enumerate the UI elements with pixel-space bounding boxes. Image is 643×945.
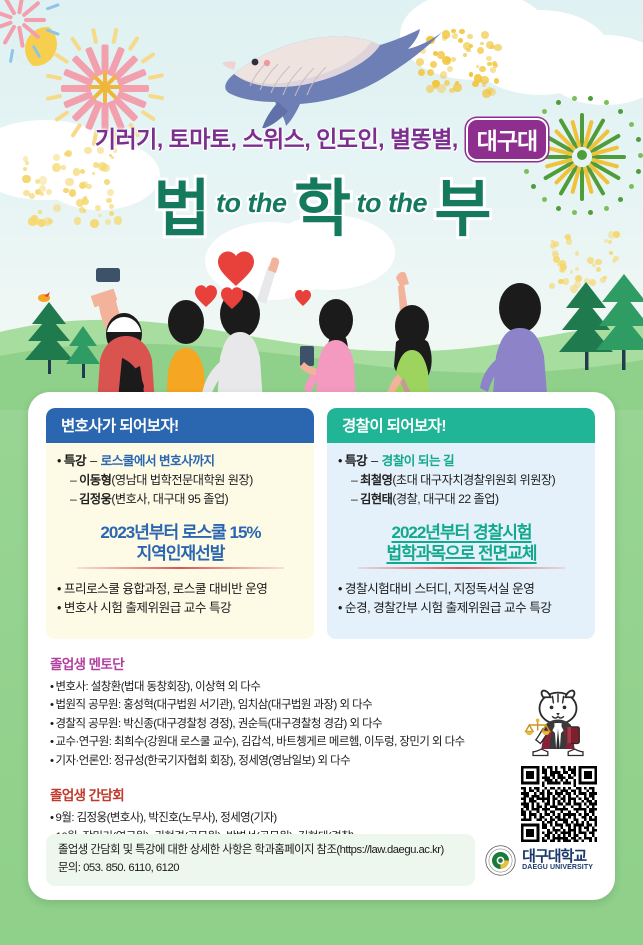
university-badge: 대구대 — [466, 118, 548, 161]
lecture-dash: – — [371, 452, 378, 471]
card-police: 경찰이 되어보자! • 특강 – 경찰이 되는 길 – 최철영(초대 대구자치경… — [327, 408, 595, 639]
bullet-icon: • — [50, 812, 54, 824]
lecture-title: 로스쿨에서 변호사까지 — [101, 452, 215, 471]
title-part-2: 학 — [294, 158, 349, 248]
speaker-name: 김정웅 — [79, 492, 111, 506]
highlight-line-1: 2023년부터 로스쿨 15% — [57, 522, 304, 543]
mentor-section-title: 졸업생 멘토단 — [50, 653, 597, 673]
card-lawyer-body: • 특강 – 로스쿨에서 변호사까지 – 이동형(영남대 법학전문대학원 원장)… — [46, 443, 314, 639]
logo-name-english: DAEGU UNIVERSITY — [522, 864, 593, 871]
speaker-row: – 김현태(경찰, 대구대 22 졸업) — [338, 490, 585, 509]
speaker-affiliation: (변호사, 대구대 95 졸업) — [111, 492, 228, 506]
bullet-icon: • — [338, 599, 342, 618]
bullet-icon: • — [50, 736, 54, 748]
speaker-name: 이동형 — [79, 473, 111, 487]
lecture-dash: – — [90, 452, 97, 471]
card-bullet: • 프리로스쿨 융합과정, 로스쿨 대비반 운영 — [57, 580, 304, 599]
lecture-row: • 특강 – 로스쿨에서 변호사까지 — [57, 452, 304, 471]
people-figures-illustration — [0, 240, 643, 410]
mentor-item-text: 경찰직 공무원: 박신종(대구경찰청 경정), 권순득(대구경찰청 경감) 외 … — [56, 718, 383, 730]
bullet-icon: • — [50, 755, 54, 767]
mentor-item: •법원직 공무원: 홍성혁(대구법원 서기관), 임치삼(대구법원 과장) 외 … — [50, 696, 597, 714]
highlight-line-2: 법학과목으로 전면교체 — [338, 543, 585, 564]
page-title: 법 to the 학 to the 부 — [0, 158, 643, 248]
bullet-icon: • — [50, 681, 54, 693]
speaker-row: – 김정웅(변호사, 대구대 95 졸업) — [57, 490, 304, 509]
card-police-highlight: 2022년부터 경찰시험 법학과목으로 전면교체 — [338, 522, 585, 565]
page-headline: 기러기, 토마토, 스위스, 인도인, 별똥별, 대구대 — [0, 118, 643, 161]
mentor-item-text: 기자·언론인: 정규성(한국기자협회 회장), 정세영(영남일보) 외 다수 — [56, 755, 351, 767]
lecture-label: 특강 — [345, 452, 367, 471]
lecture-title: 경찰이 되는 길 — [382, 452, 455, 471]
card-bullet: • 변호사 시험 출제위원급 교수 특강 — [57, 599, 304, 618]
headline-prefix: 기러기, 토마토, 스위스, 인도인, 별똥별, — [95, 126, 458, 152]
bullet-icon: • — [57, 452, 61, 471]
card-lawyer: 변호사가 되어보자! • 특강 – 로스쿨에서 변호사까지 – 이동형(영남대 … — [46, 408, 314, 639]
title-connector-1: to the — [213, 188, 290, 219]
bullet-icon: • — [50, 718, 54, 730]
speaker-name: 최철영 — [360, 473, 392, 487]
speaker-dash: – — [351, 492, 357, 506]
footer-line-1: 졸업생 간담회 및 특강에 대한 상세한 사항은 학과홈페이지 참조(https… — [58, 842, 463, 860]
card-bullet-text: 순경, 경찰간부 시험 출제위원급 교수 특강 — [345, 599, 551, 618]
bullet-icon: • — [57, 580, 61, 599]
speaker-dash: – — [351, 473, 357, 487]
mentor-item: •변호사: 설창환(법대 동창회장), 이상혁 외 다수 — [50, 678, 597, 696]
mentor-item: •교수·연구원: 최희수(강원대 로스쿨 교수), 김갑석, 바트쳉게르 메르헴… — [50, 733, 597, 751]
speaker-affiliation: (영남대 법학전문대학원 원장) — [111, 473, 252, 487]
card-police-body: • 특강 – 경찰이 되는 길 – 최철영(초대 대구자치경찰위원회 위원장) … — [327, 443, 595, 639]
content-panel: 변호사가 되어보자! • 특강 – 로스쿨에서 변호사까지 – 이동형(영남대 … — [28, 392, 615, 900]
divider — [77, 567, 284, 569]
meeting-section-title: 졸업생 간담회 — [50, 784, 597, 804]
speaker-affiliation: (초대 대구자치경찰위원회 위원장) — [392, 473, 555, 487]
bullet-icon: • — [338, 580, 342, 599]
speaker-affiliation: (경찰, 대구대 22 졸업) — [392, 492, 498, 506]
title-connector-2: to the — [353, 188, 430, 219]
mentor-item: •기자·언론인: 정규성(한국기자협회 회장), 정세영(영남일보) 외 다수 — [50, 752, 597, 770]
mentor-item: •경찰직 공무원: 박신종(대구경찰청 경정), 권순득(대구경찰청 경감) 외… — [50, 715, 597, 733]
daegu-university-emblem-icon — [485, 845, 516, 876]
speaker-name: 김현태 — [360, 492, 392, 506]
speaker-dash: – — [70, 473, 76, 487]
bullet-icon: • — [50, 699, 54, 711]
lecture-row: • 특강 – 경찰이 되는 길 — [338, 452, 585, 471]
title-part-1: 법 — [154, 158, 209, 248]
speaker-dash: – — [70, 492, 76, 506]
mentor-section: 졸업생 멘토단 •변호사: 설창환(법대 동창회장), 이상혁 외 다수 •법원… — [46, 653, 597, 770]
card-lawyer-header: 변호사가 되어보자! — [46, 408, 314, 443]
mentor-item-text: 교수·연구원: 최희수(강원대 로스쿨 교수), 김갑석, 바트쳉게르 메르헴,… — [56, 736, 465, 748]
card-bullet-text: 경찰시험대비 스터디, 지정독서실 운영 — [345, 580, 534, 599]
card-lawyer-highlight: 2023년부터 로스쿨 15% 지역인재선발 — [57, 522, 304, 565]
card-bullet-text: 프리로스쿨 융합과정, 로스쿨 대비반 운영 — [64, 580, 267, 599]
whale-illustration — [210, 8, 460, 128]
divider — [358, 567, 565, 569]
speaker-row: – 이동형(영남대 법학전문대학원 원장) — [57, 471, 304, 490]
university-logo: 대구대학교 DAEGU UNIVERSITY — [485, 845, 597, 876]
lecture-label: 특강 — [64, 452, 86, 471]
mentor-item-text: 변호사: 설창환(법대 동창회장), 이상혁 외 다수 — [56, 681, 261, 693]
card-bullet: • 경찰시험대비 스터디, 지정독서실 운영 — [338, 580, 585, 599]
meeting-item-text: 9월: 김정웅(변호사), 박진호(노무사), 정세영(기자) — [56, 812, 277, 824]
bullet-icon: • — [57, 599, 61, 618]
logo-name-korean: 대구대학교 — [522, 849, 593, 865]
title-part-3: 부 — [434, 158, 489, 248]
speaker-row: – 최철영(초대 대구자치경찰위원회 위원장) — [338, 471, 585, 490]
footer: 졸업생 간담회 및 특강에 대한 상세한 사항은 학과홈페이지 참조(https… — [46, 834, 597, 886]
card-bullet: • 순경, 경찰간부 시험 출제위원급 교수 특강 — [338, 599, 585, 618]
info-cards: 변호사가 되어보자! • 특강 – 로스쿨에서 변호사까지 – 이동형(영남대 … — [46, 408, 597, 639]
highlight-line-1: 2022년부터 경찰시험 — [338, 522, 585, 543]
mentor-item-text: 법원직 공무원: 홍성혁(대구법원 서기관), 임치삼(대구법원 과장) 외 다… — [56, 699, 373, 711]
cloud-decoration — [545, 35, 643, 105]
qr-code[interactable] — [521, 766, 597, 842]
meeting-item: •9월: 김정웅(변호사), 박진호(노무사), 정세영(기자) — [50, 809, 597, 827]
footer-info-box: 졸업생 간담회 및 특강에 대한 상세한 사항은 학과홈페이지 참조(https… — [46, 834, 475, 886]
tiger-mascot-icon — [521, 688, 595, 762]
footer-line-2: 문의: 053. 850. 6110, 6120 — [58, 860, 463, 878]
highlight-line-2: 지역인재선발 — [57, 543, 304, 564]
card-bullet-text: 변호사 시험 출제위원급 교수 특강 — [64, 599, 231, 618]
card-police-header: 경찰이 되어보자! — [327, 408, 595, 443]
bullet-icon: • — [338, 452, 342, 471]
